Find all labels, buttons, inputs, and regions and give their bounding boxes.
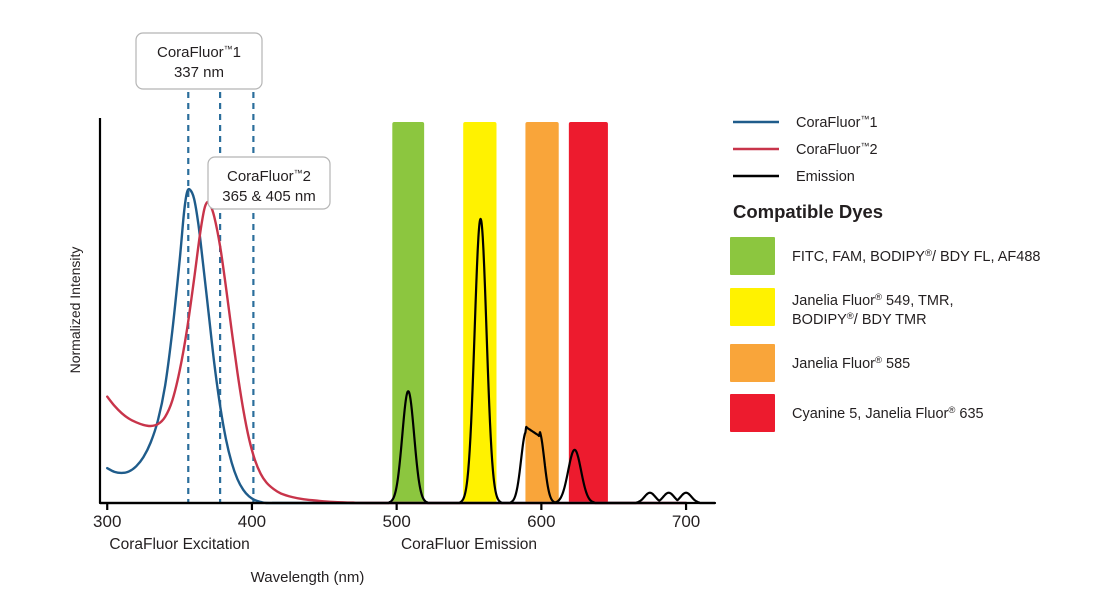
- y-axis-title: Normalized Intensity: [67, 247, 83, 374]
- legend-label-0: CoraFluor™1: [796, 114, 878, 131]
- red-band: [569, 122, 608, 503]
- region-label-1: CoraFluor Emission: [401, 536, 537, 553]
- dye-swatch-3: [730, 394, 775, 432]
- dye-label-1-line-1: BODIPY®/ BDY TMR: [792, 311, 927, 329]
- x-tick-label-300: 300: [93, 512, 121, 531]
- corafluor1-callout: CoraFluor™1337 nm: [136, 33, 262, 89]
- corafluor2-callout-line2: 365 & 405 nm: [222, 188, 315, 205]
- excitation-marker-lines-group: [188, 92, 253, 503]
- x-axis-title: Wavelength (nm): [251, 569, 365, 586]
- x-tick-label-700: 700: [672, 512, 700, 531]
- dye-swatch-1: [730, 288, 775, 326]
- dye-label-2-line-0: Janelia Fluor® 585: [792, 355, 910, 373]
- x-tick-label-600: 600: [527, 512, 555, 531]
- dye-label-1-line-0: Janelia Fluor® 549, TMR,: [792, 292, 953, 310]
- dye-swatch-2: [730, 344, 775, 382]
- dye-item-2[interactable]: Janelia Fluor® 585: [730, 344, 910, 382]
- axes-group: 300400500600700CoraFluor ExcitationCoraF…: [67, 118, 715, 586]
- x-tick-label-500: 500: [382, 512, 410, 531]
- corafluor2-callout: CoraFluor™2365 & 405 nm: [208, 157, 330, 209]
- series-legend-group: CoraFluor™1CoraFluor™2Emission: [733, 114, 878, 185]
- x-tick-label-400: 400: [238, 512, 266, 531]
- emission-bands-group: [392, 122, 608, 503]
- dye-label-3-line-0: Cyanine 5, Janelia Fluor® 635: [792, 405, 984, 423]
- green-band: [392, 122, 424, 503]
- compatible-dyes-title: Compatible Dyes: [733, 201, 883, 222]
- dye-label-0-line-0: FITC, FAM, BODIPY®/ BDY FL, AF488: [792, 248, 1040, 266]
- corafluor1-callout-line2: 337 nm: [174, 64, 224, 81]
- dye-item-3[interactable]: Cyanine 5, Janelia Fluor® 635: [730, 394, 984, 432]
- callouts-group: CoraFluor™1337 nmCoraFluor™2365 & 405 nm: [136, 33, 330, 209]
- compatible-dyes-panel: Compatible DyesFITC, FAM, BODIPY®/ BDY F…: [730, 201, 1040, 432]
- legend-label-1: CoraFluor™2: [796, 141, 878, 158]
- legend-item-0[interactable]: CoraFluor™1: [733, 114, 878, 131]
- region-label-0: CoraFluor Excitation: [109, 536, 249, 553]
- dye-item-1[interactable]: Janelia Fluor® 549, TMR,BODIPY®/ BDY TMR: [730, 288, 953, 328]
- legend-label-2: Emission: [796, 169, 855, 185]
- legend-item-2[interactable]: Emission: [733, 169, 855, 185]
- dye-swatch-0: [730, 237, 775, 275]
- spectra-figure: 300400500600700CoraFluor ExcitationCoraF…: [0, 0, 1110, 612]
- dye-item-0[interactable]: FITC, FAM, BODIPY®/ BDY FL, AF488: [730, 237, 1040, 275]
- legend-item-1[interactable]: CoraFluor™2: [733, 141, 878, 158]
